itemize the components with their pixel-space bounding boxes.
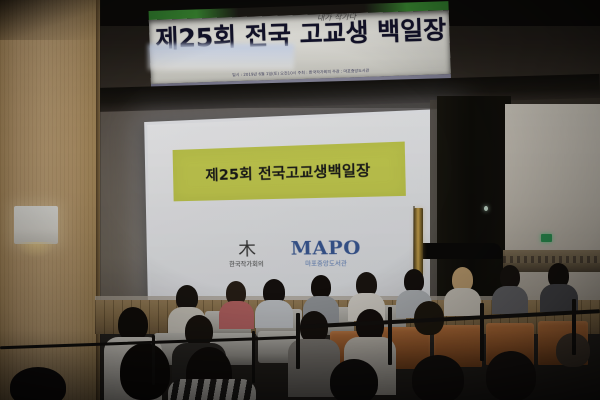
- wall-sconce-light: [14, 206, 58, 244]
- pillar-top-shadow: [0, 0, 100, 40]
- audience-body: [492, 286, 528, 314]
- audience-head-front: [120, 343, 170, 400]
- railing-post: [296, 313, 300, 369]
- slide-title-box: 제25회 전국고교생백일장: [173, 141, 407, 201]
- audience-area: [0, 255, 600, 400]
- railing-post: [152, 335, 155, 385]
- audience-body: [255, 300, 293, 328]
- audience-head-front: [412, 355, 464, 400]
- audience-head-front: [330, 359, 378, 400]
- audience-head-front: [486, 351, 536, 400]
- railing-post: [252, 331, 255, 383]
- railing-post: [572, 299, 576, 355]
- railing-post: [388, 307, 392, 365]
- audience-body: [219, 301, 254, 329]
- railing-post: [480, 303, 484, 361]
- exit-sign-icon: [541, 234, 552, 242]
- audience-body-striped: [168, 379, 256, 400]
- photo-scene: 제25회 전국 고교생 백일장 내가 작가다 일시 : 2019년 6월 1일(…: [0, 0, 600, 400]
- stage-indicator-light-icon: [484, 206, 488, 211]
- audience-body: [444, 288, 481, 316]
- audience-head: [118, 307, 148, 341]
- audience-head-front: [10, 367, 66, 400]
- slide-title: 제25회 전국고교생백일장: [205, 159, 371, 185]
- banner-body: 제25회 전국 고교생 백일장 내가 작가다 일시 : 2019년 6월 1일(…: [149, 10, 451, 84]
- banner-title: 제25회 전국 고교생 백일장: [155, 15, 444, 55]
